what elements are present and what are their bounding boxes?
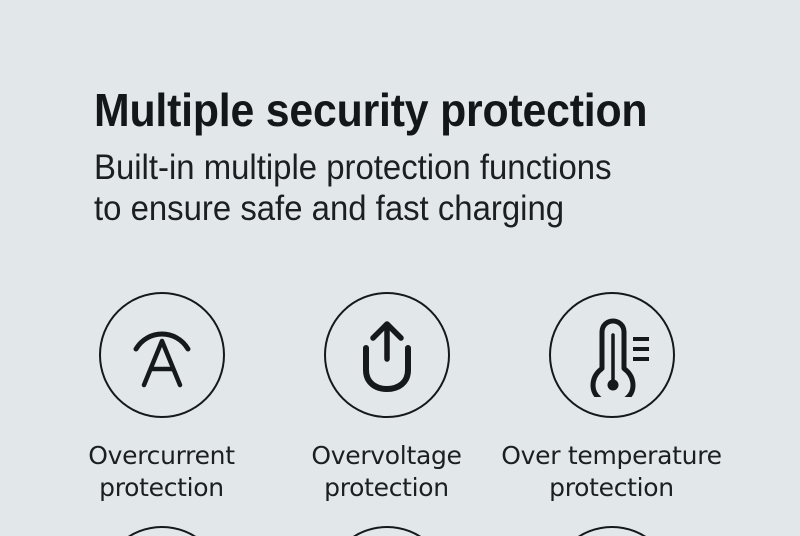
- promo-page: Multiple security protection Built-in mu…: [0, 0, 800, 536]
- feature-item-overcurrent: Overcurrent protection: [49, 292, 274, 504]
- feature-item-over-temperature: Over temperature protection: [499, 292, 724, 504]
- feature-label: Overvoltage protection: [311, 440, 461, 504]
- page-subtitle-line-1: Built-in multiple protection functions: [94, 147, 714, 188]
- heading-block: Multiple security protection Built-in mu…: [94, 82, 754, 229]
- feature-label: Overcurrent protection: [88, 440, 234, 504]
- page-subtitle: Built-in multiple protection functions t…: [94, 138, 714, 229]
- thermometer-circle-icon: [549, 292, 675, 418]
- ampere-arc-circle-icon: [99, 292, 225, 418]
- feature-item-overvoltage: Overvoltage protection: [274, 292, 499, 504]
- feature-item-row2-3: [499, 526, 724, 536]
- feature-icon-grid: Overcurrent protection Overvoltage prote…: [0, 292, 800, 536]
- page-subtitle-line-2: to ensure safe and fast charging: [94, 188, 714, 229]
- feature-item-row2-1: [49, 526, 274, 536]
- feature-item-row2-2: [274, 526, 499, 536]
- feature-label: Over temperature protection: [501, 440, 721, 504]
- voltage-up-arrow-circle-icon: [324, 292, 450, 418]
- circle-outline-icon: [99, 526, 225, 536]
- page-title: Multiple security protection: [94, 82, 708, 138]
- circle-outline-icon: [324, 526, 450, 536]
- feature-row: Overcurrent protection Overvoltage prote…: [0, 292, 800, 504]
- circle-outline-icon: [549, 526, 675, 536]
- feature-row: [0, 526, 800, 536]
